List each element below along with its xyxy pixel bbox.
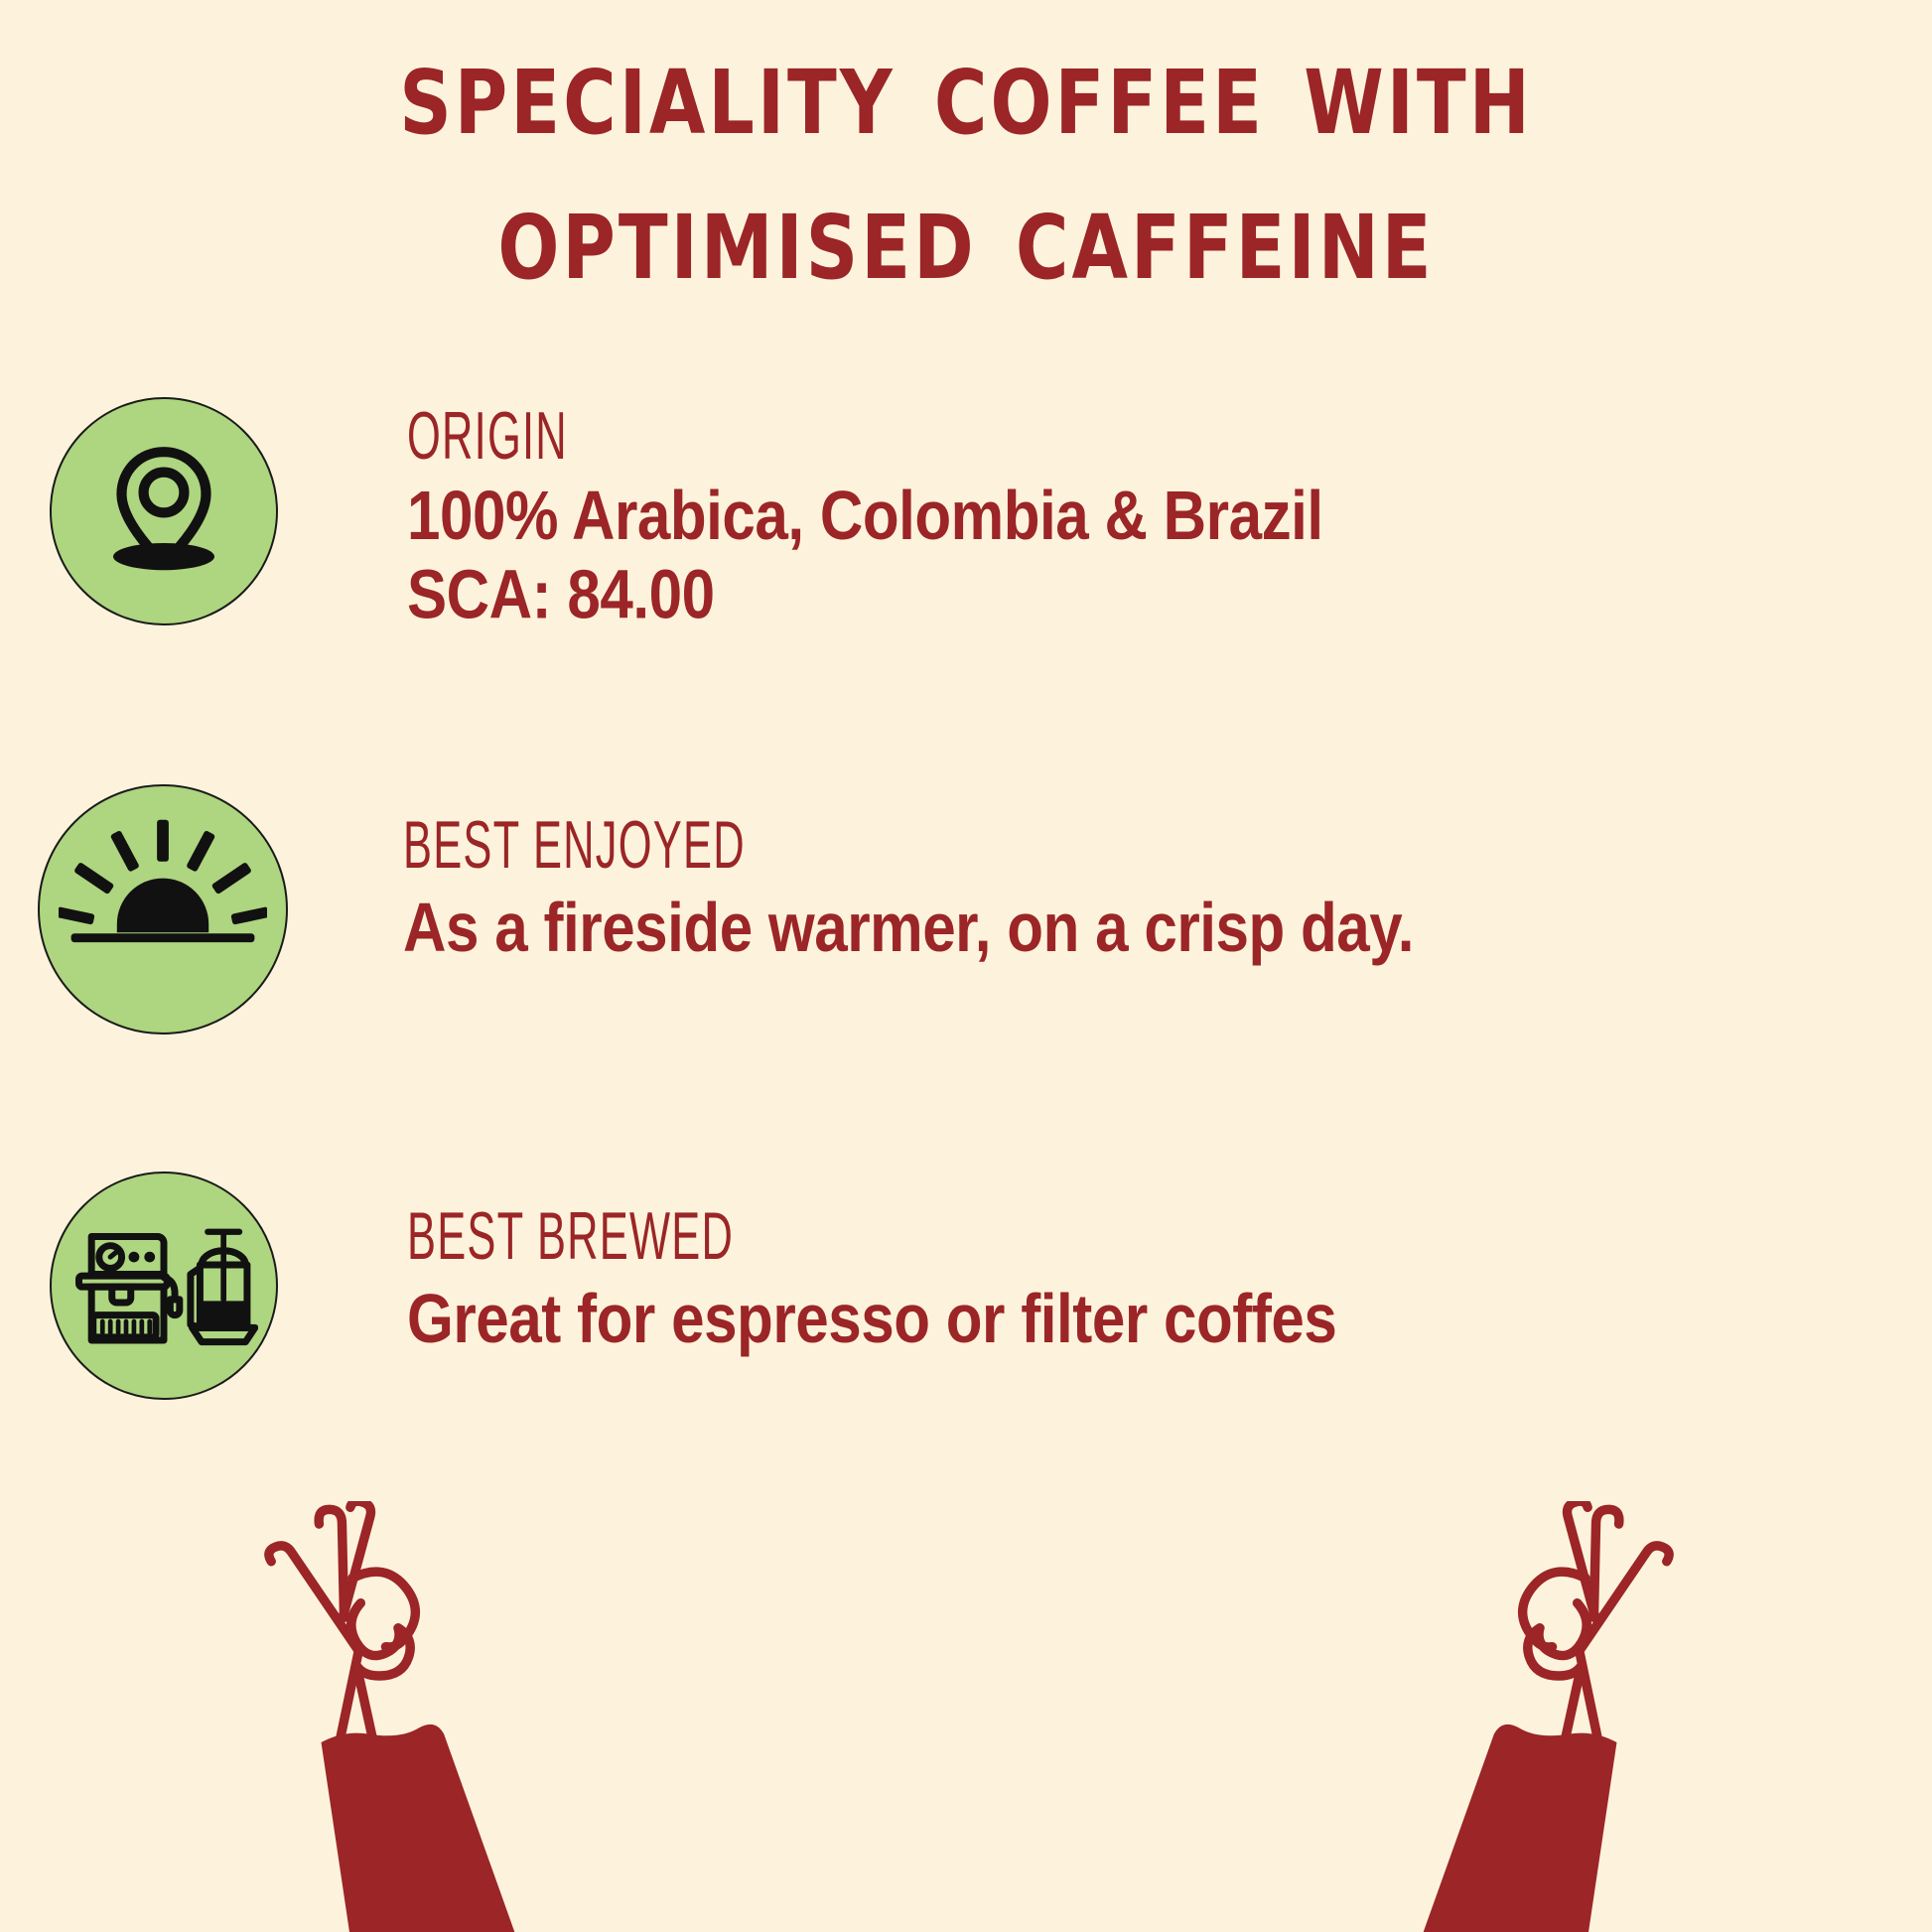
infographic-page: Speciality Coffee with Optimised Caffein… [0, 0, 1932, 1932]
best-enjoyed-value-line-1: As a fireside warmer, on a crisp day. [403, 889, 1414, 966]
page-title: Speciality Coffee with Optimised Caffein… [0, 18, 1932, 280]
ok-hand-left-illustration [220, 1501, 618, 1932]
origin-icon-badge [50, 397, 278, 625]
best-brewed-text-block: BEST BREWED Great for espresso or filter… [407, 1172, 1396, 1354]
best-enjoyed-icon-badge [38, 784, 288, 1035]
espresso-machine-and-french-press-icon [69, 1189, 258, 1383]
location-pin-icon [79, 425, 248, 599]
best-enjoyed-text-block: BEST ENJOYED As a fireside warmer, on a … [403, 784, 1478, 963]
best-brewed-value: Great for espresso or filter coffes [407, 1280, 1336, 1357]
title-line-1: Speciality Coffee with [0, 18, 1932, 161]
info-row-origin: ORIGIN 100% Arabica, Colombia & Brazil S… [50, 397, 1382, 627]
info-row-best-brewed: BEST BREWED Great for espresso or filter… [50, 1172, 1396, 1400]
sunrise-icon [59, 803, 267, 1017]
info-row-best-enjoyed: BEST ENJOYED As a fireside warmer, on a … [38, 784, 1478, 1035]
best-brewed-icon-badge [50, 1172, 278, 1400]
best-brewed-value-line-1: Great for espresso or filter coffes [407, 1280, 1336, 1357]
origin-value-line-1: 100% Arabica, Colombia & Brazil [407, 477, 1323, 554]
best-enjoyed-value: As a fireside warmer, on a crisp day. [403, 889, 1414, 966]
best-brewed-label: BEST BREWED [407, 1199, 1218, 1276]
best-enjoyed-label: BEST ENJOYED [403, 808, 1285, 885]
origin-label: ORIGIN [407, 399, 1206, 476]
ok-hand-right-illustration [1320, 1501, 1718, 1932]
origin-value-line-2: SCA: 84.00 [407, 556, 1323, 633]
title-line-2: Optimised Caffeine [0, 163, 1932, 306]
origin-text-block: ORIGIN 100% Arabica, Colombia & Brazil S… [407, 397, 1382, 627]
origin-value: 100% Arabica, Colombia & Brazil SCA: 84.… [407, 477, 1323, 633]
